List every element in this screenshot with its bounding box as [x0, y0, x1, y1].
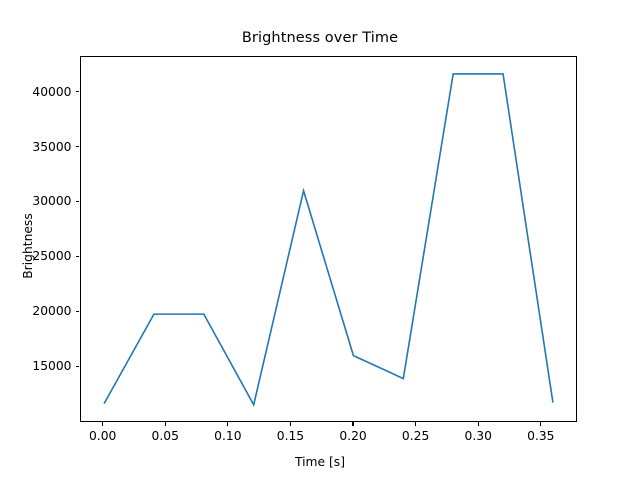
plot-area [80, 56, 577, 422]
brightness-line [104, 74, 553, 405]
y-tick-label: 40000 [0, 85, 72, 99]
x-tick-mark [165, 422, 166, 426]
y-tick-mark [76, 311, 80, 312]
chart-title: Brightness over Time [0, 30, 640, 46]
x-tick-mark [415, 422, 416, 426]
y-tick-mark [76, 91, 80, 92]
x-tick-label: 0.30 [465, 429, 492, 443]
data-line-series [81, 57, 576, 421]
y-tick-label: 30000 [0, 194, 72, 208]
x-tick-mark [478, 422, 479, 426]
x-axis-label: Time [s] [0, 455, 640, 469]
y-tick-mark [76, 256, 80, 257]
y-tick-label: 25000 [0, 249, 72, 263]
x-tick-label: 0.25 [402, 429, 429, 443]
x-tick-label: 0.35 [527, 429, 554, 443]
x-tick-mark [290, 422, 291, 426]
y-axis-label: Brightness [21, 166, 35, 326]
x-tick-label: 0.10 [214, 429, 241, 443]
y-tick-label: 15000 [0, 359, 72, 373]
chart-figure: Brightness over Time 0.000.050.100.150.2… [0, 0, 640, 480]
x-tick-label: 0.15 [277, 429, 304, 443]
y-tick-label: 35000 [0, 140, 72, 154]
x-tick-mark [102, 422, 103, 426]
x-tick-label: 0.00 [89, 429, 116, 443]
x-tick-mark [227, 422, 228, 426]
y-tick-mark [76, 146, 80, 147]
x-tick-label: 0.20 [339, 429, 366, 443]
y-tick-mark [76, 366, 80, 367]
y-tick-mark [76, 201, 80, 202]
x-tick-mark [352, 422, 353, 426]
x-tick-label: 0.05 [152, 429, 179, 443]
x-tick-mark [540, 422, 541, 426]
y-tick-label: 20000 [0, 304, 72, 318]
